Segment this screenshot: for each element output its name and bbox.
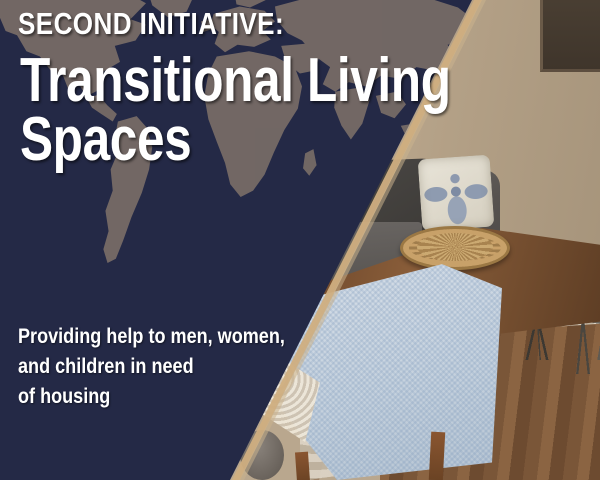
armchair-rear-leg [429, 432, 445, 480]
armchair-front-leg [295, 452, 310, 480]
slide-headline: Transitional Living Spaces [20, 52, 451, 170]
headline-line-2: Spaces [20, 111, 451, 170]
presentation-slide: SECOND INITIATIVE: Transitional Living S… [0, 0, 600, 480]
slide-eyebrow-heading: SECOND INITIATIVE: [18, 8, 284, 41]
body-line-3: of housing [18, 382, 285, 412]
body-line-2: and children in need [18, 352, 285, 382]
slide-body-text: Providing help to men, women, and childr… [18, 322, 285, 411]
basket-tray-weave [417, 233, 493, 261]
body-line-1: Providing help to men, women, [18, 322, 285, 352]
wall-mounted-tv [540, 0, 600, 72]
